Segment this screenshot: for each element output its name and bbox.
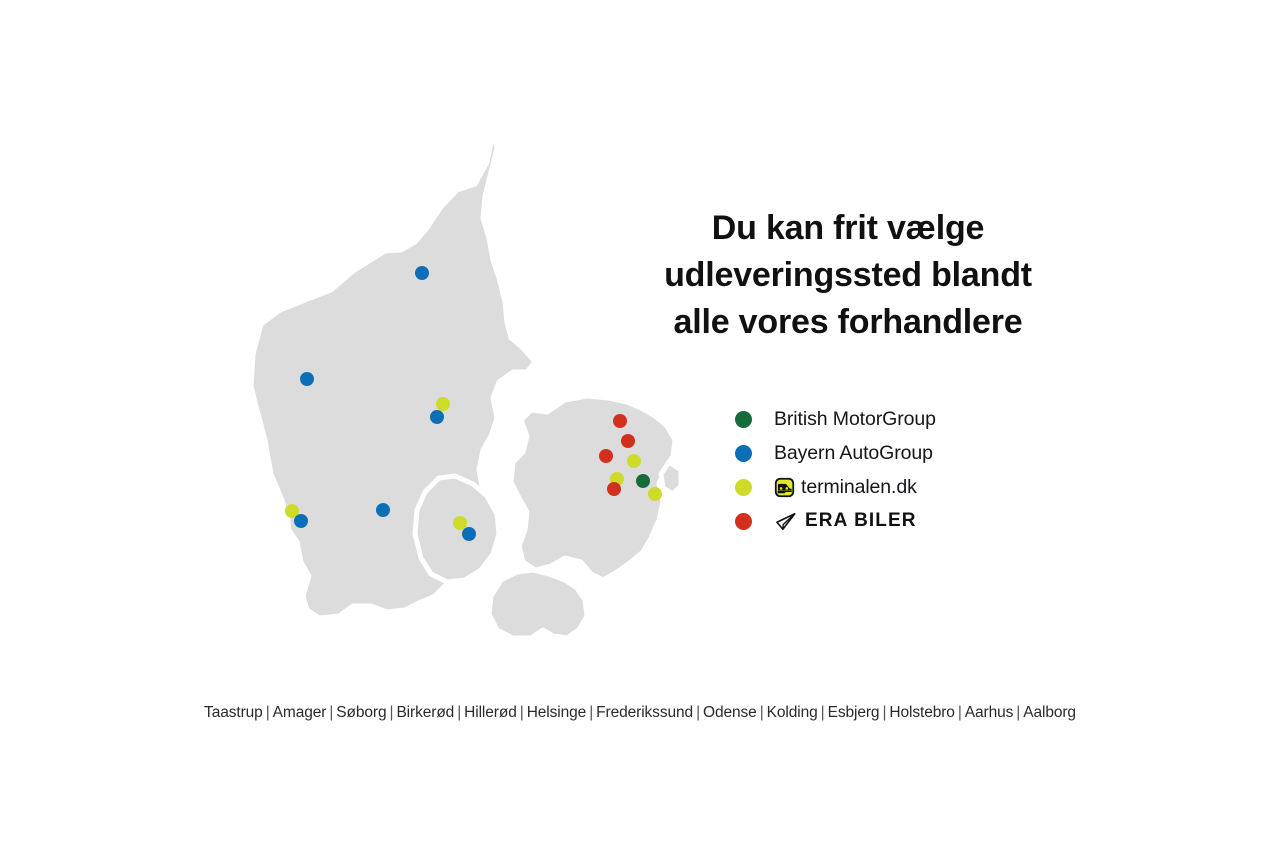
city-separator: | xyxy=(879,704,889,721)
city-separator: | xyxy=(818,704,828,721)
map-dot-aalborg[interactable] xyxy=(415,266,429,280)
region-east-fragment xyxy=(661,462,681,494)
region-zealand xyxy=(511,396,675,580)
map-dot-holstebro[interactable] xyxy=(300,372,314,386)
map-dot-taastrup[interactable] xyxy=(607,482,621,496)
city-separator: | xyxy=(263,704,273,721)
city-frederikssund: Frederikssund xyxy=(596,704,693,721)
city-birkerød: Birkerød xyxy=(396,704,454,721)
brand-legend: British MotorGroup Bayern AutoGroup xyxy=(735,402,1135,538)
title-line-3: alle vores forhandlere xyxy=(628,299,1068,346)
map-dot-frederikssund[interactable] xyxy=(599,449,613,463)
city-taastrup: Taastrup xyxy=(204,704,263,721)
city-søborg: Søborg xyxy=(336,704,386,721)
title-line-1: Du kan frit vælge xyxy=(628,205,1068,252)
legend-swatch-yellow xyxy=(735,479,752,496)
city-amager: Amager xyxy=(273,704,327,721)
city-separator: | xyxy=(1013,704,1023,721)
map-dot-aarhus-term[interactable] xyxy=(436,397,450,411)
city-odense: Odense xyxy=(703,704,757,721)
map-dot-soborg[interactable] xyxy=(636,474,650,488)
city-separator: | xyxy=(757,704,767,721)
city-list: Taastrup|Amager|Søborg|Birkerød|Hillerød… xyxy=(0,704,1280,722)
dealer-map-page: Du kan frit vælge udleveringssted blandt… xyxy=(0,0,1280,853)
city-separator: | xyxy=(693,704,703,721)
city-kolding: Kolding xyxy=(767,704,818,721)
map-dot-odense[interactable] xyxy=(462,527,476,541)
city-holstebro: Holstebro xyxy=(889,704,954,721)
legend-label-bayern-autogroup: Bayern AutoGroup xyxy=(774,442,933,465)
map-dot-aarhus[interactable] xyxy=(430,410,444,424)
city-esbjerg: Esbjerg xyxy=(828,704,880,721)
city-aalborg: Aalborg xyxy=(1023,704,1076,721)
map-dot-birkerod-term[interactable] xyxy=(627,454,641,468)
city-separator: | xyxy=(517,704,527,721)
map-dot-odense-term[interactable] xyxy=(453,516,467,530)
city-separator: | xyxy=(586,704,596,721)
denmark-map xyxy=(235,110,705,680)
map-dot-kolding[interactable] xyxy=(376,503,390,517)
city-separator: | xyxy=(454,704,464,721)
legend-label-era-biler: ERA BILER xyxy=(805,510,917,532)
title-line-2: udleveringssted blandt xyxy=(628,252,1068,299)
map-dot-hillerod[interactable] xyxy=(621,434,635,448)
legend-item-era-biler[interactable]: ERA BILER xyxy=(735,504,1135,538)
map-dot-amager-term[interactable] xyxy=(648,487,662,501)
legend-label-british-motorgroup: British MotorGroup xyxy=(774,408,936,431)
map-svg xyxy=(235,110,705,680)
legend-swatch-green xyxy=(735,411,752,428)
terminalen-van-icon xyxy=(774,477,795,498)
map-dot-esbjerg[interactable] xyxy=(294,514,308,528)
city-separator: | xyxy=(387,704,397,721)
legend-item-bayern-autogroup[interactable]: Bayern AutoGroup xyxy=(735,436,1135,470)
region-lolland-falster xyxy=(489,570,587,638)
legend-swatch-red xyxy=(735,513,752,530)
legend-item-terminalen[interactable]: terminalen.dk xyxy=(735,470,1135,504)
legend-label-terminalen: terminalen.dk xyxy=(801,476,917,499)
city-separator: | xyxy=(955,704,965,721)
page-title: Du kan frit vælge udleveringssted blandt… xyxy=(628,205,1068,346)
map-dot-helsinge[interactable] xyxy=(613,414,627,428)
city-separator: | xyxy=(326,704,336,721)
legend-item-british-motorgroup[interactable]: British MotorGroup xyxy=(735,402,1135,436)
city-helsinge: Helsinge xyxy=(527,704,587,721)
city-aarhus: Aarhus xyxy=(965,704,1014,721)
city-hillerød: Hillerød xyxy=(464,704,517,721)
legend-swatch-blue xyxy=(735,445,752,462)
era-triangle-icon xyxy=(774,512,798,531)
